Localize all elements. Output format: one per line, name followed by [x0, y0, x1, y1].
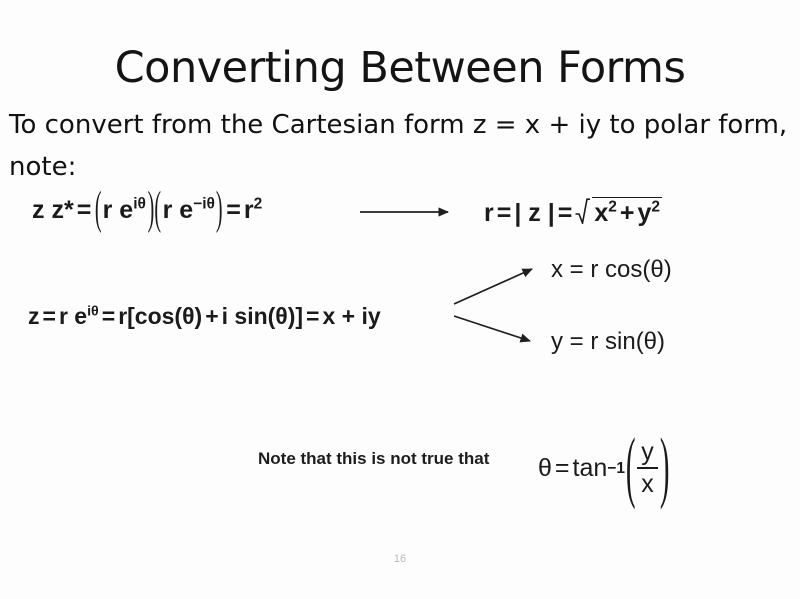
eq-euler-sin-term: i sin(θ)]: [222, 303, 303, 329]
page-number: 16: [0, 553, 800, 565]
eq-euler-equals-3: =: [303, 303, 322, 329]
eq-theta-equals: =: [552, 454, 573, 483]
eq-euler-lhs: z: [28, 303, 40, 329]
eq-euler-re-exponent: iθ: [87, 303, 99, 319]
eq-modulus-y: y: [637, 199, 651, 227]
equation-zz-conjugate: z z*=(r eiθ)(r e−iθ)=r2: [32, 196, 262, 225]
eq-theta-lhs: θ: [538, 454, 552, 483]
slide-title: Converting Between Forms: [0, 46, 800, 91]
eq-modulus-equals-2: =: [555, 199, 576, 227]
eq-theta-denominator: x: [637, 469, 658, 497]
eq-zzstar-equals-1: =: [74, 196, 95, 224]
eq-zzstar-rhs-base: r: [244, 196, 254, 224]
slide-canvas: Converting Between Forms To convert from…: [0, 0, 800, 599]
arrow-to-x-component: [454, 269, 532, 304]
eq-modulus-abs-z: | z |: [514, 199, 554, 227]
eq-zzstar-term2-exponent: −iθ: [193, 196, 215, 213]
eq-zzstar-lhs: z z*: [32, 196, 74, 224]
eq-theta-numerator: y: [637, 440, 658, 467]
eq-zzstar-equals-2: =: [223, 196, 244, 224]
intro-paragraph: To convert from the Cartesian form z = x…: [9, 104, 795, 188]
eq-zzstar-term1-exponent: iθ: [133, 196, 146, 213]
eq-zzstar-rhs-exponent: 2: [254, 196, 263, 213]
eq-zzstar-term1-base: r e: [103, 196, 134, 224]
equation-modulus: r=| z |=x2+y2: [484, 196, 662, 228]
note-caption: Note that this is not true that: [258, 449, 489, 469]
eq-modulus-radical: x2+y2: [575, 196, 662, 228]
equation-x-component: x = r cos(θ): [551, 256, 672, 284]
eq-euler-equals-1: =: [40, 303, 59, 329]
eq-zzstar-middle-parens: )(: [148, 184, 161, 236]
eq-zzstar-term2-base: r e: [163, 196, 194, 224]
eq-modulus-plus: +: [617, 199, 638, 227]
eq-modulus-radicand: x2+y2: [592, 197, 662, 228]
equation-theta-arctan: θ=tan−1(yx): [538, 440, 670, 497]
eq-modulus-lhs: r: [484, 199, 494, 227]
eq-euler-plus: +: [202, 303, 221, 329]
eq-zzstar-open-paren: (: [95, 184, 102, 236]
eq-theta-open-paren: (: [626, 424, 636, 513]
eq-theta-close-paren: ): [660, 424, 670, 513]
eq-theta-tan: tan: [573, 454, 608, 483]
eq-euler-equals-2: =: [99, 303, 118, 329]
eq-theta-fraction: yx: [637, 440, 658, 497]
eq-modulus-x-exponent: 2: [608, 199, 617, 216]
equation-euler-form: z=r eiθ=r[cos(θ)+i sin(θ)]=x + iy: [28, 303, 381, 330]
eq-modulus-equals-1: =: [494, 199, 515, 227]
eq-modulus-x: x: [594, 199, 608, 227]
eq-euler-re: r e: [59, 303, 87, 329]
equation-y-component: y = r sin(θ): [551, 328, 665, 356]
radical-sign-icon: [575, 198, 590, 224]
eq-modulus-y-exponent: 2: [651, 199, 660, 216]
arrow-to-y-component: [454, 316, 530, 341]
eq-euler-cos-term: r[cos(θ): [118, 303, 202, 329]
eq-zzstar-close-paren: ): [216, 184, 223, 236]
eq-euler-rhs: x + iy: [322, 303, 380, 329]
